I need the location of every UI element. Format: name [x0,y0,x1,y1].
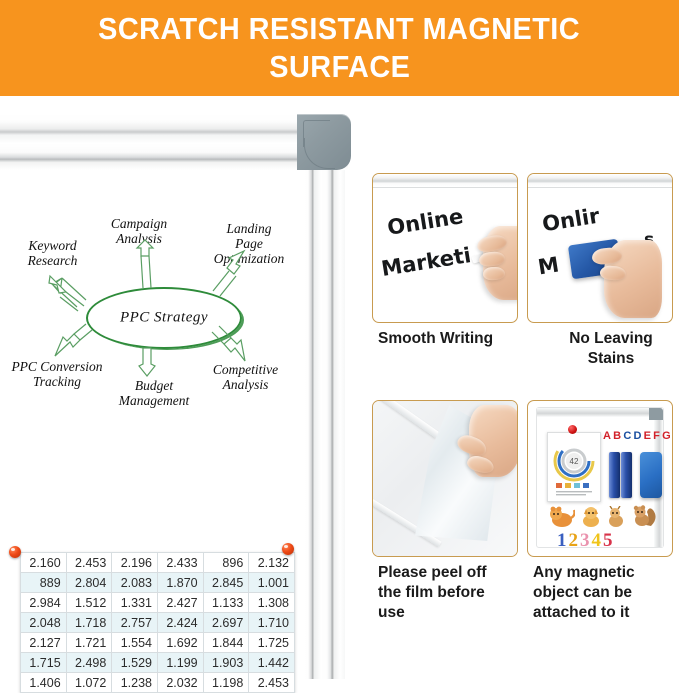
mini-corner-bracket [649,408,663,420]
table-cell: 1.442 [249,653,295,673]
table-cell: 2.127 [21,633,67,653]
table-cell: 2.984 [21,593,67,613]
mini-whiteboard-rail [373,174,517,188]
whiteboard-top-rail [0,114,348,176]
table-cell: 1.554 [112,633,158,653]
magnetic-letter: G [662,430,673,442]
table-cell: 2.845 [203,573,249,593]
caption-peel-film: Please peel off the film before use [378,563,524,623]
table-cell: 1.710 [249,613,295,633]
table-cell: 1.072 [66,673,112,693]
magnetic-letter: B [613,430,623,442]
table-cell: 2.757 [112,613,158,633]
table-cell: 2.160 [21,553,67,573]
table-cell: 1.721 [66,633,112,653]
table-body: 2.1602.4532.1962.4338962.1328892.8042.08… [21,553,295,693]
svg-text:42: 42 [570,457,579,466]
table-cell: 1.870 [157,573,203,593]
table-cell: 2.498 [66,653,112,673]
magnetic-number: 3 [580,530,592,551]
table-cell: 1.725 [249,633,295,653]
magnetic-letter: F [653,430,662,442]
eraser-icon [640,452,662,498]
table-cell: 2.453 [66,553,112,573]
table-cell: 2.427 [157,593,203,613]
table-cell: 1.238 [112,673,158,693]
table-cell: 2.196 [112,553,158,573]
table-row: 2.0481.7182.7572.4242.6971.710 [21,613,295,633]
magnet-dot-right [282,543,294,555]
table-cell: 2.132 [249,553,295,573]
table-cell: 2.804 [66,573,112,593]
table-cell: 896 [203,553,249,573]
poster-donut-chart: 42 [548,433,600,501]
animal-magnet-deer [605,506,627,533]
magnetic-letter: E [644,430,654,442]
table-cell: 889 [21,573,67,593]
magnetic-number: 4 [592,530,604,551]
magnetic-numbers: 12345 [557,530,615,552]
table-cell: 1.903 [203,653,249,673]
table-cell: 1.844 [203,633,249,653]
table-cell: 1.199 [157,653,203,673]
mindmap-arrows [0,196,308,446]
table-cell: 2.424 [157,613,203,633]
banner-line-2: SURFACE [269,48,410,86]
table-cell: 1.133 [203,593,249,613]
magnetic-letters: ABCDEFG [603,430,673,442]
handwriting-marketing-partial: M [536,253,560,280]
panel-peel-film [372,400,518,557]
table-cell: 1.718 [66,613,112,633]
mini-whiteboard: 42 ABCDEFG [536,407,664,548]
table-cell: 2.697 [203,613,249,633]
ppc-strategy-mindmap: PPC Strategy Keyword Research Campaign A… [0,196,308,446]
spreadsheet-table-magnet: 2.1602.4532.1962.4338962.1328892.8042.08… [20,552,295,693]
handwriting-online-partial: Onlir [540,204,601,237]
whiteboard-corner-bracket [297,114,351,170]
red-magnet-dot [568,425,577,434]
marker-icon-2 [621,452,632,498]
table-cell: 1.512 [66,593,112,613]
magnetic-number: 5 [603,530,615,551]
animal-magnet-cat [579,506,603,533]
whiteboard-product-photo: PPC Strategy Keyword Research Campaign A… [0,100,348,679]
data-table: 2.1602.4532.1962.4338962.1328892.8042.08… [20,552,295,693]
animal-magnet-tiger [549,506,575,533]
table-cell: 1.001 [249,573,295,593]
table-cell: 1.529 [112,653,158,673]
table-cell: 2.032 [157,673,203,693]
magnet-dot-left [9,546,21,558]
marker-icon-1 [609,452,620,498]
table-cell: 2.083 [112,573,158,593]
mini-rail-top [537,408,663,417]
header-banner: SCRATCH RESISTANT MAGNETIC SURFACE [0,0,679,96]
table-row: 2.1602.4532.1962.4338962.132 [21,553,295,573]
magnetic-letter: D [633,430,643,442]
mini-whiteboard-rail [528,174,672,188]
magnetic-number: 2 [569,530,581,551]
table-row: 1.7152.4981.5291.1991.9031.442 [21,653,295,673]
handwriting-online: Online [386,204,465,240]
table-cell: 1.715 [21,653,67,673]
banner-line-1: SCRATCH RESISTANT MAGNETIC [99,10,581,48]
table-cell: 2.048 [21,613,67,633]
table-row: 1.4061.0721.2382.0321.1982.453 [21,673,295,693]
table-cell: 2.433 [157,553,203,573]
table-row: 8892.8042.0831.8702.8451.001 [21,573,295,593]
table-cell: 1.331 [112,593,158,613]
table-cell: 1.198 [203,673,249,693]
table-cell: 1.406 [21,673,67,693]
table-cell: 1.692 [157,633,203,653]
panel-no-leaving-stains: Onlir M s [527,173,673,323]
panel-magnetic-objects: 42 ABCDEFG [527,400,673,557]
table-cell: 1.308 [249,593,295,613]
poster-chart: 42 [547,432,601,502]
whiteboard-right-rail [305,170,345,679]
caption-no-leaving-stains: No Leaving Stains [546,329,676,369]
caption-smooth-writing: Smooth Writing [378,329,524,349]
magnetic-number: 1 [557,530,569,551]
table-row: 2.1271.7211.5541.6921.8441.725 [21,633,295,653]
table-cell: 2.453 [249,673,295,693]
panel-smooth-writing: Online Marketi [372,173,518,323]
table-row: 2.9841.5121.3312.4271.1331.308 [21,593,295,613]
animal-magnet-squirrel [631,504,657,533]
magnetic-letter: C [623,430,633,442]
caption-magnetic-objects: Any magnetic object can be attached to i… [533,563,679,623]
handwriting-marketing: Marketi [380,243,473,281]
magnetic-letter: A [603,430,613,442]
